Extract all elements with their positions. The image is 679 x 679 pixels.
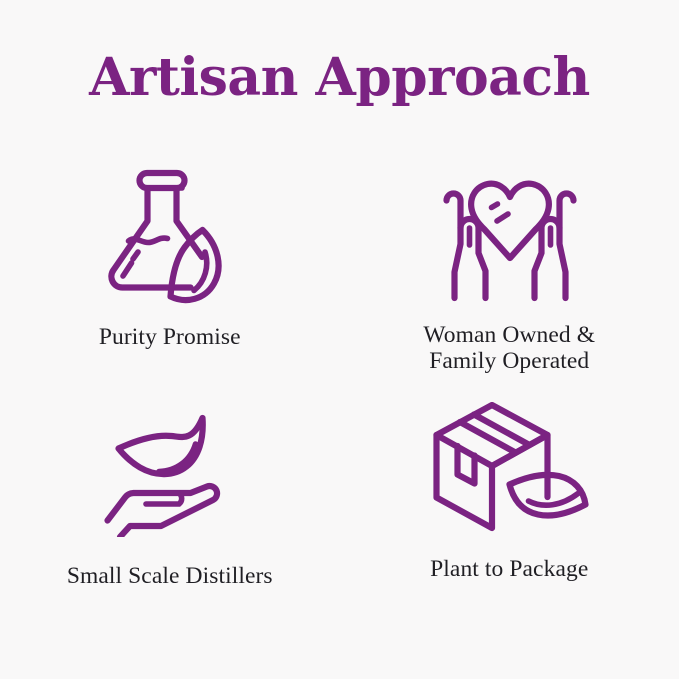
hands-heart-icon bbox=[429, 162, 591, 302]
feature-label: Plant to Package bbox=[430, 556, 588, 582]
feature-label: Woman Owned & Family Operated bbox=[423, 322, 595, 374]
feature-label: Purity Promise bbox=[99, 324, 241, 350]
feature-item-small-scale-distillers: Small Scale Distillers bbox=[0, 390, 340, 630]
feature-grid: Purity Promise bbox=[0, 150, 679, 630]
feature-label: Small Scale Distillers bbox=[67, 563, 273, 589]
page-title: Artisan Approach bbox=[0, 47, 679, 109]
box-leaf-icon bbox=[431, 402, 591, 534]
feature-item-plant-to-package: Plant to Package bbox=[340, 390, 679, 630]
flask-leaf-icon bbox=[94, 158, 244, 308]
feature-item-purity-promise: Purity Promise bbox=[0, 150, 340, 390]
artisan-approach-panel: Artisan Approach Purity Prom bbox=[0, 0, 679, 679]
feature-item-woman-owned: Woman Owned & Family Operated bbox=[340, 150, 679, 390]
leaf-on-palm-icon bbox=[98, 412, 238, 537]
